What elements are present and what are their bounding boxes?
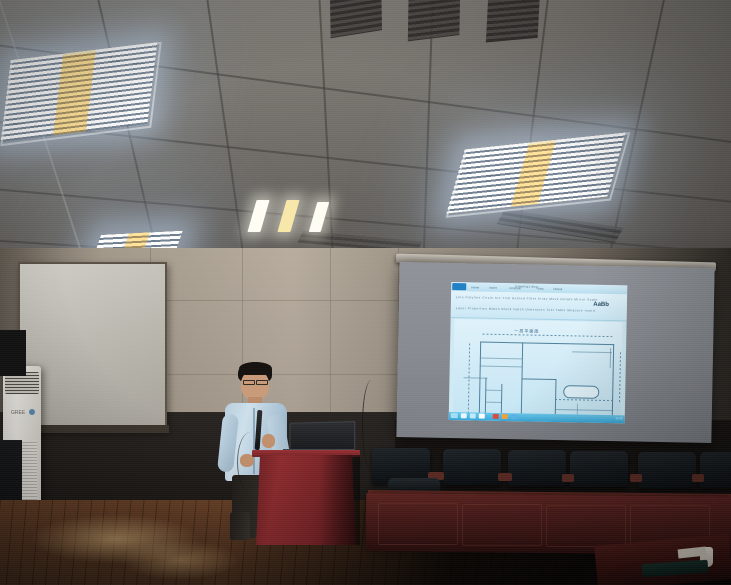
ac-brand-label: GREE — [11, 410, 25, 416]
conference-chair[interactable] — [508, 450, 566, 486]
taskbar-icon-mail[interactable] — [479, 414, 485, 419]
presenter-hair-top — [239, 362, 272, 375]
conference-chair[interactable] — [700, 452, 731, 488]
taskbar-clock[interactable]: 15:42 — [615, 416, 623, 420]
chair-armrest — [630, 474, 642, 482]
ribbon-row-draw[interactable]: Line Polyline Circle Arc Trim Extend Fil… — [456, 295, 598, 302]
table-front-panel — [378, 503, 458, 545]
conference-room-photo: GREE Drawing1.dwg Home Insert Annotate V… — [0, 0, 731, 585]
suspended-tile-ceiling — [0, 0, 731, 272]
ceiling-louver-fixture-off — [486, 0, 540, 42]
drawing-canvas[interactable]: 一层平面图 — [453, 319, 623, 415]
text-style-preview[interactable]: AaBb — [593, 302, 609, 308]
file-menu-button[interactable] — [452, 283, 466, 290]
presenter-glasses — [256, 380, 268, 385]
projected-image: Drawing1.dwg Home Insert Annotate View O… — [449, 282, 628, 423]
ceiling-louver-fixture-off — [408, 0, 460, 41]
taskbar-icon-cad[interactable] — [493, 414, 499, 419]
menu-bar-annotate[interactable]: Annotate — [509, 286, 521, 290]
ribbon-toolbar[interactable]: Line Polyline Circle Arc Trim Extend Fil… — [451, 291, 627, 321]
ceiling-strip-light — [247, 200, 269, 232]
presenter-hand-right — [262, 434, 275, 448]
conference-chair[interactable] — [443, 449, 501, 485]
ceiling-louver-fixture-off — [330, 0, 382, 38]
projection-screen[interactable]: Drawing1.dwg Home Insert Annotate View O… — [396, 262, 714, 443]
floor-plan-drawing — [459, 339, 618, 411]
menu-bar-insert[interactable]: Insert — [489, 286, 497, 290]
conference-chair[interactable] — [570, 451, 628, 487]
table-front-panel — [462, 504, 542, 546]
plan-oval-feature — [563, 385, 599, 399]
presenter-leg — [230, 512, 250, 540]
conference-chair[interactable] — [638, 452, 696, 488]
taskbar-icon-browser[interactable] — [470, 413, 476, 418]
taskbar-start-button[interactable] — [451, 413, 458, 418]
taskbar-icon-explorer[interactable] — [461, 413, 467, 418]
chair-armrest — [498, 473, 512, 481]
table-front-panel — [546, 505, 626, 547]
audio-cable — [237, 432, 264, 492]
taskbar-icon-office[interactable] — [502, 414, 508, 419]
menu-bar-view[interactable]: View — [537, 287, 544, 291]
chair-armrest — [692, 474, 704, 482]
menu-bar[interactable]: Home — [471, 285, 479, 289]
ribbon-row-modify[interactable]: Layer Properties Match Block Hatch Dimen… — [456, 306, 596, 313]
presenter-glasses — [243, 380, 255, 385]
chair-armrest — [562, 474, 574, 482]
dark-cabinet — [0, 330, 26, 376]
menu-bar-output[interactable]: Output — [553, 287, 562, 291]
taskbar-icon-media[interactable] — [511, 414, 517, 419]
